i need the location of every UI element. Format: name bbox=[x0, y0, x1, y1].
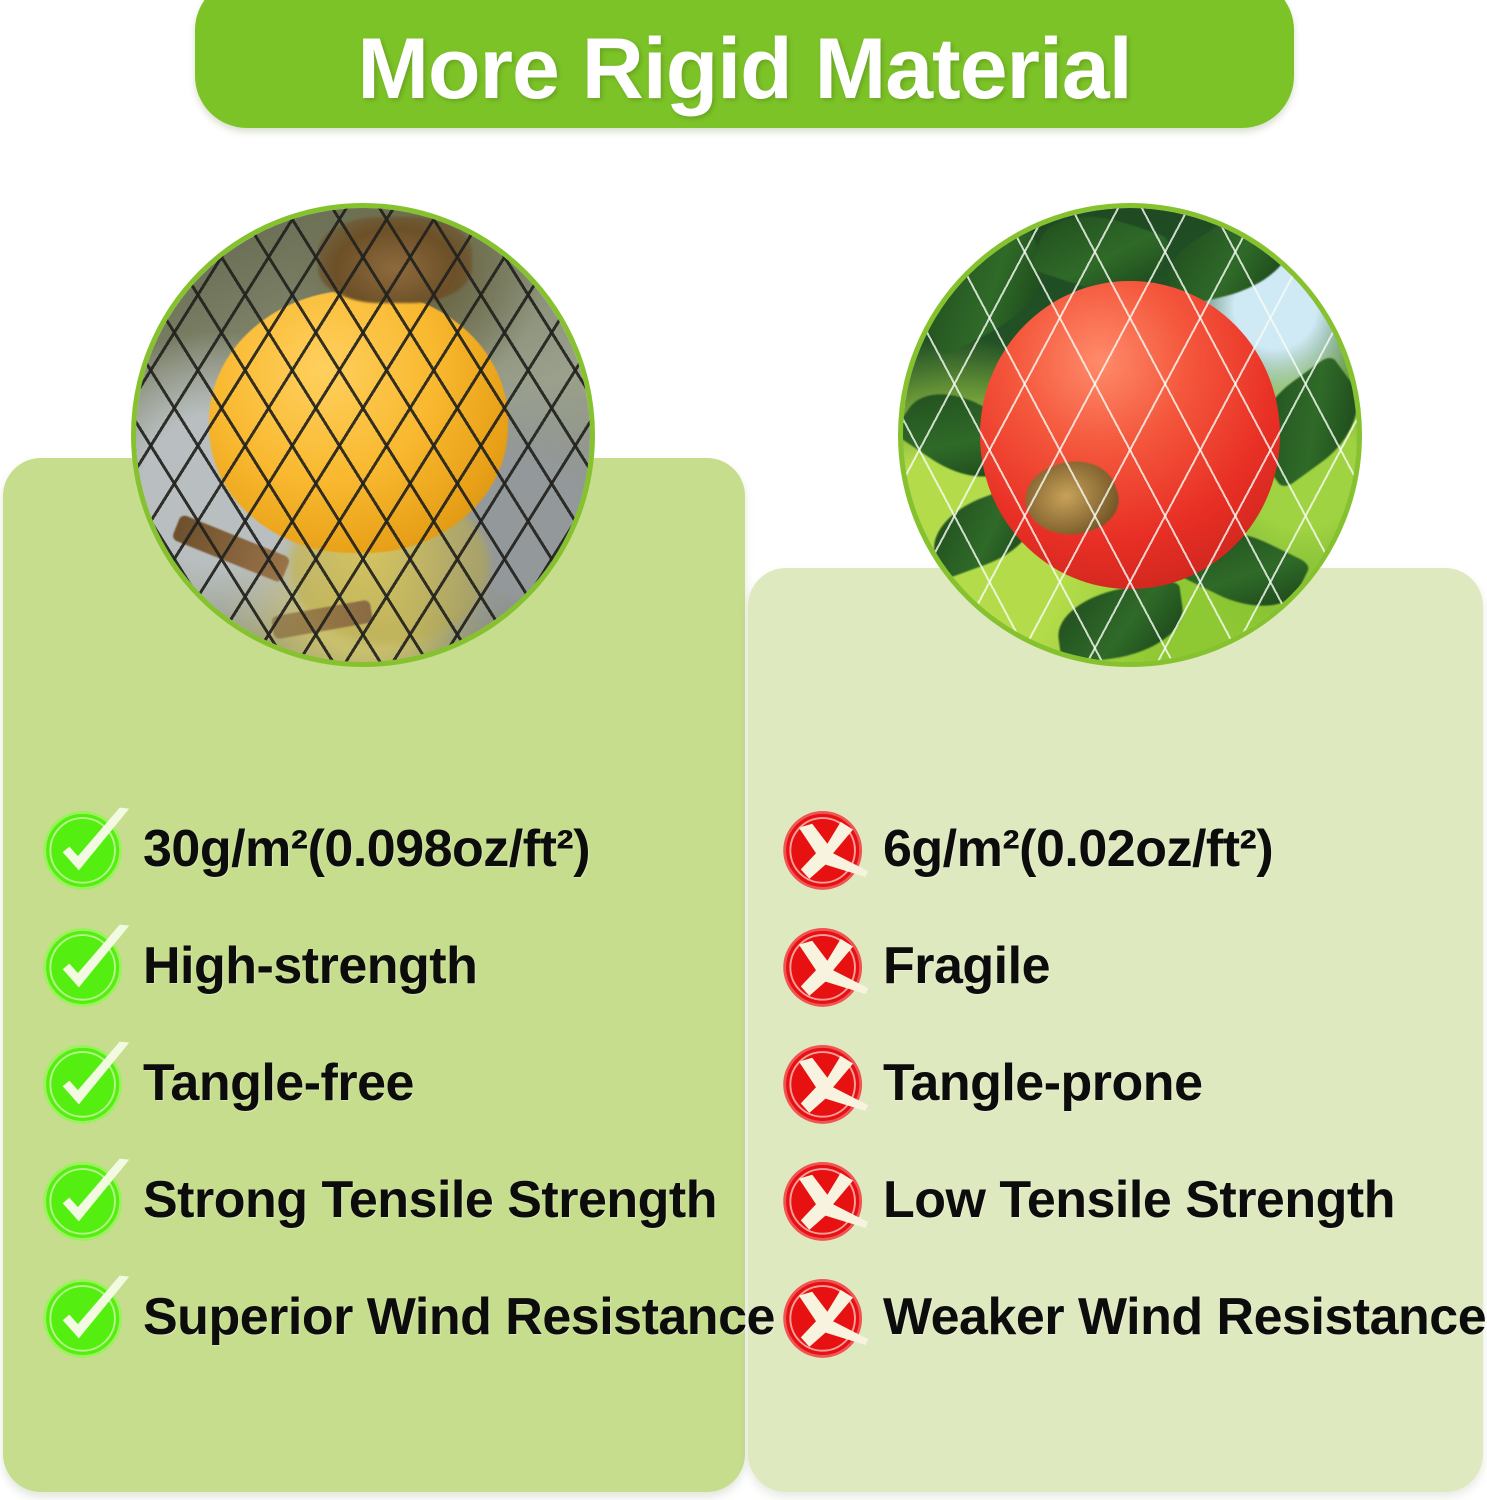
list-item-label: High-strength bbox=[143, 940, 477, 992]
list-item: Low Tensile Strength bbox=[778, 1141, 1478, 1258]
page-title: More Rigid Material bbox=[357, 26, 1131, 128]
check-circle-icon bbox=[38, 1035, 133, 1130]
photo-left-content bbox=[136, 208, 590, 662]
cross-circle-icon bbox=[778, 918, 873, 1013]
photo-left-netting-mesh bbox=[131, 203, 595, 667]
list-item: Weaker Wind Resistance bbox=[778, 1258, 1478, 1375]
check-circle-icon bbox=[38, 918, 133, 1013]
list-item-label: Tangle-free bbox=[143, 1057, 414, 1109]
list-item-label: Tangle-prone bbox=[883, 1057, 1202, 1109]
feature-list-left: 30g/m²(0.098oz/ft²) High-strength Tangle… bbox=[38, 790, 738, 1375]
list-item-label: Fragile bbox=[883, 940, 1050, 992]
list-item: High-strength bbox=[38, 907, 738, 1024]
check-circle-icon bbox=[38, 1269, 133, 1364]
list-item-label: 6g/m²(0.02oz/ft²) bbox=[883, 823, 1273, 875]
header-banner: More Rigid Material bbox=[195, 0, 1294, 128]
list-item-label: Strong Tensile Strength bbox=[143, 1174, 717, 1226]
feature-list-right: 6g/m²(0.02oz/ft²) Fragile Tangle-prone bbox=[778, 790, 1478, 1375]
cross-circle-icon bbox=[778, 1035, 873, 1130]
list-item: Strong Tensile Strength bbox=[38, 1141, 738, 1258]
photo-right-content bbox=[903, 208, 1357, 662]
list-item: Superior Wind Resistance bbox=[38, 1258, 738, 1375]
list-item-label: 30g/m²(0.098oz/ft²) bbox=[143, 823, 590, 875]
list-item-label: Superior Wind Resistance bbox=[143, 1291, 775, 1343]
list-item: Fragile bbox=[778, 907, 1478, 1024]
list-item: 30g/m²(0.098oz/ft²) bbox=[38, 790, 738, 907]
check-circle-icon bbox=[38, 801, 133, 896]
product-photo-right bbox=[898, 203, 1362, 667]
list-item-label: Weaker Wind Resistance bbox=[883, 1291, 1486, 1343]
check-circle-icon bbox=[38, 1152, 133, 1247]
list-item: Tangle-free bbox=[38, 1024, 738, 1141]
cross-circle-icon bbox=[778, 1269, 873, 1364]
list-item: 6g/m²(0.02oz/ft²) bbox=[778, 790, 1478, 907]
photo-right-netting-mesh bbox=[898, 203, 1362, 667]
cross-circle-icon bbox=[778, 1152, 873, 1247]
cross-circle-icon bbox=[778, 801, 873, 896]
list-item: Tangle-prone bbox=[778, 1024, 1478, 1141]
list-item-label: Low Tensile Strength bbox=[883, 1174, 1395, 1226]
product-photo-left bbox=[131, 203, 595, 667]
